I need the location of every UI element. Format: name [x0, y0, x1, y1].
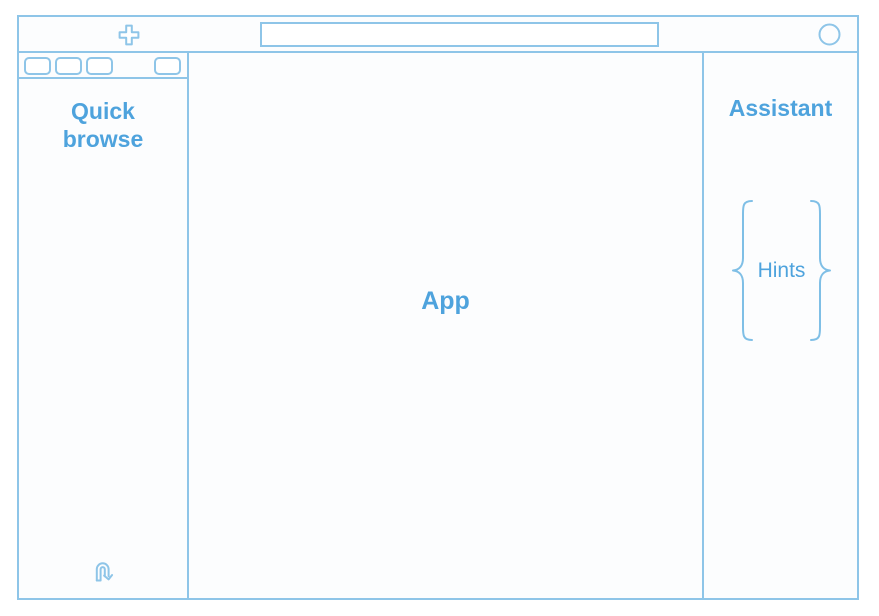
- search-input[interactable]: [260, 22, 659, 47]
- new-tab-button[interactable]: [115, 21, 143, 49]
- u-turn-back-icon: [89, 557, 117, 585]
- hints-block: Hints: [712, 198, 851, 343]
- app-area-label: App: [421, 287, 470, 316]
- plus-icon: [117, 23, 141, 47]
- sidebar-tab-strip: [19, 53, 187, 79]
- sidebar-tab-2[interactable]: [55, 57, 82, 75]
- assistant-title: Assistant: [704, 95, 857, 122]
- window-body: Quick browse App Assistant: [19, 53, 857, 598]
- app-window-frame: Quick browse App Assistant: [17, 15, 859, 600]
- app-content-area[interactable]: App: [189, 53, 702, 598]
- sidebar-tab-overflow[interactable]: [154, 57, 181, 75]
- assistant-panel: Assistant Hints: [702, 53, 857, 598]
- brace-right-icon: [807, 198, 833, 343]
- history-back-button[interactable]: [88, 556, 118, 586]
- hints-label: Hints: [756, 259, 808, 283]
- sidebar-tab-3[interactable]: [86, 57, 113, 75]
- brace-left-icon: [730, 198, 756, 343]
- circle-avatar-icon: [818, 23, 841, 46]
- sidebar-tab-1[interactable]: [24, 57, 51, 75]
- browser-top-bar: [19, 17, 857, 53]
- account-avatar[interactable]: [818, 23, 841, 46]
- sidebar-content: Quick browse: [19, 79, 187, 598]
- quick-browse-sidebar: Quick browse: [19, 53, 189, 598]
- quick-browse-title: Quick browse: [19, 97, 187, 153]
